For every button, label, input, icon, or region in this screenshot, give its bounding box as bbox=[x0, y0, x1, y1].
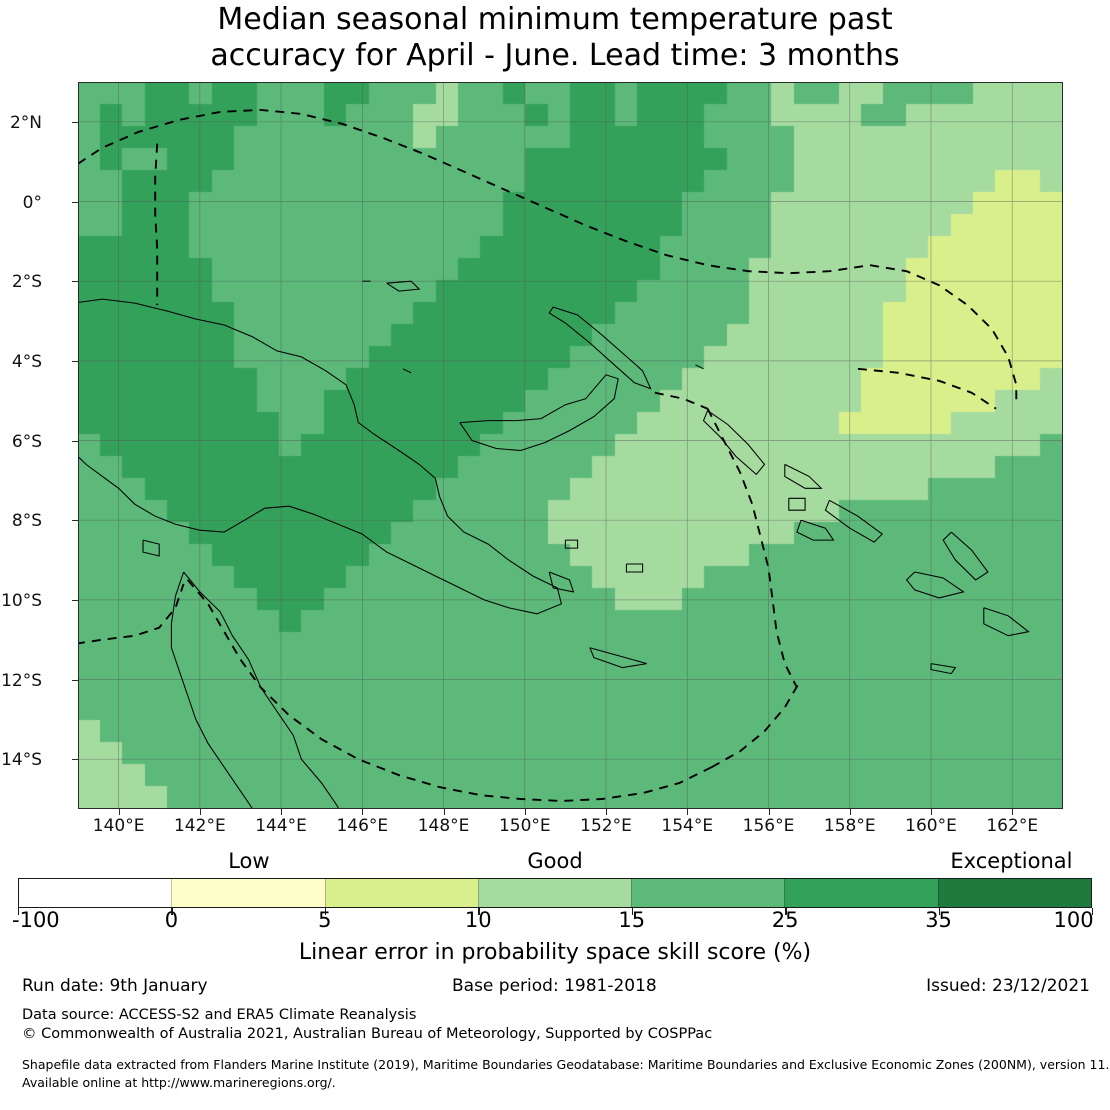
run-date-text: Run date: 9th January bbox=[22, 976, 208, 996]
longitude-tick-mark bbox=[362, 809, 363, 815]
latitude-tick-label: 0° bbox=[23, 193, 42, 213]
data-source-text: Data source: ACCESS-S2 and ERA5 Climate … bbox=[22, 1006, 712, 1025]
colorbar-tick-mark bbox=[18, 908, 19, 915]
colorbar-segment bbox=[325, 879, 478, 907]
longitude-tick-label: 152°E bbox=[580, 816, 632, 836]
longitude-tick-mark bbox=[525, 809, 526, 815]
longitude-tick-mark bbox=[850, 809, 851, 815]
longitude-tick-mark bbox=[931, 809, 932, 815]
longitude-tick-mark bbox=[769, 809, 770, 815]
map-canvas bbox=[78, 82, 1063, 809]
colorbar-segment bbox=[631, 879, 784, 907]
latitude-tick-label: 6°S bbox=[12, 432, 42, 452]
longitude-tick-label: 144°E bbox=[255, 816, 307, 836]
colorbar-tick-mark bbox=[478, 908, 479, 915]
latitude-tick-label: 10°S bbox=[1, 591, 42, 611]
colorbar-axis-label: Linear error in probability space skill … bbox=[0, 940, 1110, 965]
longitude-tick-mark bbox=[687, 809, 688, 815]
colorbar-segment bbox=[938, 879, 1091, 907]
longitude-tick-mark bbox=[281, 809, 282, 815]
colorbar-category-label: Exceptional bbox=[950, 849, 1072, 873]
colorbar-tick-mark bbox=[1092, 908, 1093, 915]
copyright-text: © Commonwealth of Australia 2021, Austra… bbox=[22, 1025, 712, 1044]
longitude-tick-mark bbox=[1012, 809, 1013, 815]
latitude-tick-mark bbox=[72, 680, 78, 681]
issued-date-text: Issued: 23/12/2021 bbox=[926, 976, 1090, 996]
longitude-tick-label: 156°E bbox=[743, 816, 795, 836]
longitude-tick-mark bbox=[444, 809, 445, 815]
longitude-tick-label: 162°E bbox=[986, 816, 1038, 836]
colorbar-tick-mark bbox=[939, 908, 940, 915]
latitude-tick-mark bbox=[72, 441, 78, 442]
footer-shapefile-block: Shapefile data extracted from Flanders M… bbox=[22, 1056, 1109, 1092]
skill-score-heatmap bbox=[78, 82, 1063, 809]
colorbar-tick-mark bbox=[632, 908, 633, 915]
shapefile-credit-line-1: Shapefile data extracted from Flanders M… bbox=[22, 1056, 1109, 1074]
latitude-tick-mark bbox=[72, 520, 78, 521]
colorbar-segment bbox=[478, 879, 631, 907]
longitude-tick-label: 158°E bbox=[824, 816, 876, 836]
longitude-tick-label: 154°E bbox=[661, 816, 713, 836]
map-panel bbox=[78, 82, 1063, 809]
colorbar-segment bbox=[19, 879, 171, 907]
colorbar-gradient bbox=[18, 878, 1092, 908]
page-title: Median seasonal minimum temperature past… bbox=[0, 2, 1110, 74]
longitude-tick-label: 140°E bbox=[93, 816, 145, 836]
latitude-tick-label: 4°S bbox=[12, 352, 42, 372]
colorbar-segment bbox=[171, 879, 324, 907]
longitude-tick-label: 150°E bbox=[499, 816, 551, 836]
longitude-tick-label: 146°E bbox=[336, 816, 388, 836]
shapefile-credit-line-2: Available online at http://www.marinereg… bbox=[22, 1074, 1109, 1092]
longitude-tick-mark bbox=[200, 809, 201, 815]
longitude-tick-label: 142°E bbox=[174, 816, 226, 836]
latitude-tick-mark bbox=[72, 361, 78, 362]
latitude-tick-label: 8°S bbox=[12, 511, 42, 531]
colorbar-tick-mark bbox=[325, 908, 326, 915]
colorbar-tick-label: 100 bbox=[1054, 908, 1094, 932]
colorbar-tick-mark bbox=[171, 908, 172, 915]
latitude-tick-mark bbox=[72, 281, 78, 282]
latitude-tick-label: 14°S bbox=[1, 750, 42, 770]
longitude-tick-label: 160°E bbox=[905, 816, 957, 836]
colorbar bbox=[18, 878, 1092, 908]
footer-meta-row: Run date: 9th January Base period: 1981-… bbox=[0, 976, 1110, 1000]
colorbar-category-label: Low bbox=[228, 849, 269, 873]
latitude-tick-label: 12°S bbox=[1, 671, 42, 691]
latitude-tick-label: 2°S bbox=[12, 272, 42, 292]
footer-source-block: Data source: ACCESS-S2 and ERA5 Climate … bbox=[22, 1006, 712, 1044]
latitude-tick-label: 2°N bbox=[10, 113, 42, 133]
colorbar-tick-mark bbox=[785, 908, 786, 915]
latitude-tick-mark bbox=[72, 202, 78, 203]
longitude-tick-mark bbox=[119, 809, 120, 815]
longitude-tick-mark bbox=[606, 809, 607, 815]
latitude-tick-mark bbox=[72, 600, 78, 601]
colorbar-segment bbox=[784, 879, 937, 907]
latitude-tick-mark bbox=[72, 759, 78, 760]
base-period-text: Base period: 1981-2018 bbox=[452, 976, 657, 996]
longitude-tick-label: 148°E bbox=[418, 816, 470, 836]
colorbar-category-label: Good bbox=[527, 849, 582, 873]
latitude-tick-mark bbox=[72, 122, 78, 123]
